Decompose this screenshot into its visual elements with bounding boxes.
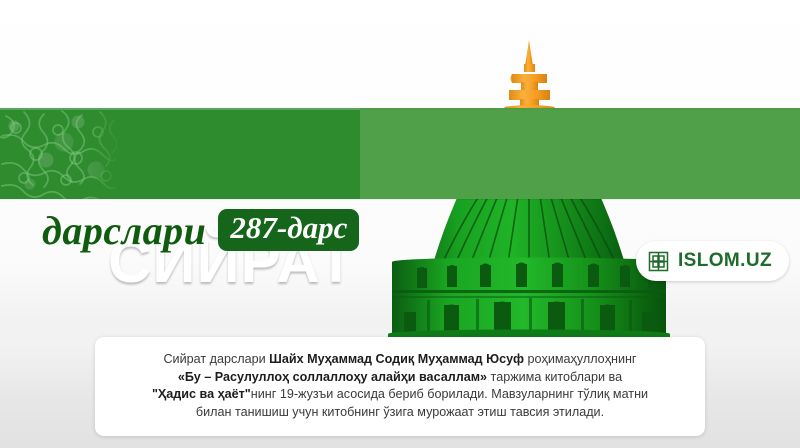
islom-uz-logo[interactable]: ISLOM.UZ <box>636 241 789 281</box>
description-line-3: "Ҳадис ва ҳаёт"нинг 19-жузъи асосида бер… <box>113 386 687 404</box>
subtitle-row: дарслари 287-дарс <box>42 206 359 254</box>
ornament-fade <box>0 108 360 199</box>
panel-highlight <box>0 108 360 110</box>
description-card: Сийрат дарслари Шайх Муҳаммад Содиқ Муҳа… <box>95 337 705 436</box>
lesson-number-badge: 287-дарс <box>218 209 359 251</box>
logo-text: ISLOM.UZ <box>678 250 772 272</box>
description-line-4: билан танишиш учун китобнинг ўзига мурож… <box>113 404 687 422</box>
islamic-knot-ornament-icon <box>648 251 669 272</box>
banner-canvas: СИЙРАТ ISLOM.UZ дарслари 287-дарс Сийрат… <box>0 0 800 448</box>
ornament-panel <box>0 108 360 199</box>
subtitle-word: дарслари <box>42 207 206 254</box>
description-line-1: Сийрат дарслари Шайх Муҳаммад Содиқ Муҳа… <box>113 351 687 369</box>
description-line-2: «Бу – Расулуллоҳ соллаллоҳу алайҳи васал… <box>113 369 687 387</box>
title-band: СИЙРАТ ISLOM.UZ <box>0 108 800 199</box>
